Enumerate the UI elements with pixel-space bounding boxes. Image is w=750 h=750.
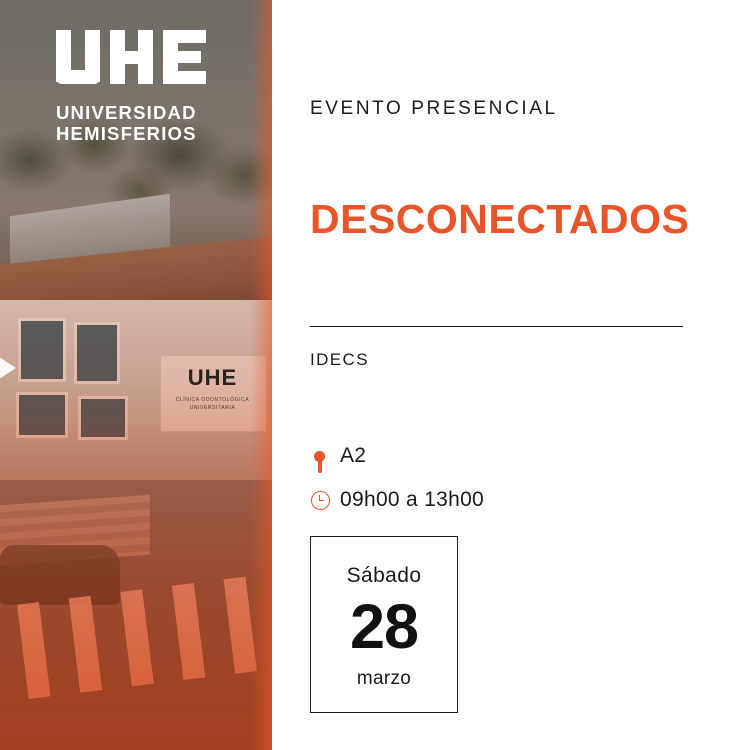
event-month: marzo — [357, 668, 411, 690]
orange-gradient-overlay — [0, 380, 272, 750]
location-pin-icon — [310, 451, 340, 462]
event-location-row: A2 — [310, 444, 366, 468]
event-weekday: Sábado — [347, 564, 422, 588]
event-location-text: A2 — [340, 444, 366, 468]
uhe-logo-mark — [56, 30, 206, 92]
uhe-logo-wordmark: UNIVERSIDAD HEMISFERIOS — [56, 102, 256, 144]
event-kicker: EVENTO PRESENCIAL — [310, 98, 558, 120]
event-title: DESCONECTADOS — [310, 196, 689, 243]
event-poster: UHE CLÍNICA ODONTOLÓGICA UNIVERSITARIA — [0, 0, 750, 750]
uhe-logo-line2: HEMISFERIOS — [56, 123, 256, 144]
event-time-row: 09h00 a 13h00 — [310, 488, 484, 512]
section-divider — [310, 326, 683, 327]
event-day-number: 28 — [350, 592, 418, 662]
event-date-box: Sábado 28 marzo — [310, 536, 458, 713]
clock-icon — [310, 491, 340, 510]
uhe-logo: UNIVERSIDAD HEMISFERIOS — [56, 30, 256, 144]
uhe-logo-line1: UNIVERSIDAD — [56, 102, 256, 123]
play-arrow-icon[interactable] — [0, 355, 16, 381]
event-details: EVENTO PRESENCIAL DESCONECTADOS IDECS A2… — [310, 0, 710, 750]
event-subtitle: IDECS — [310, 350, 369, 370]
event-time-text: 09h00 a 13h00 — [340, 488, 484, 512]
